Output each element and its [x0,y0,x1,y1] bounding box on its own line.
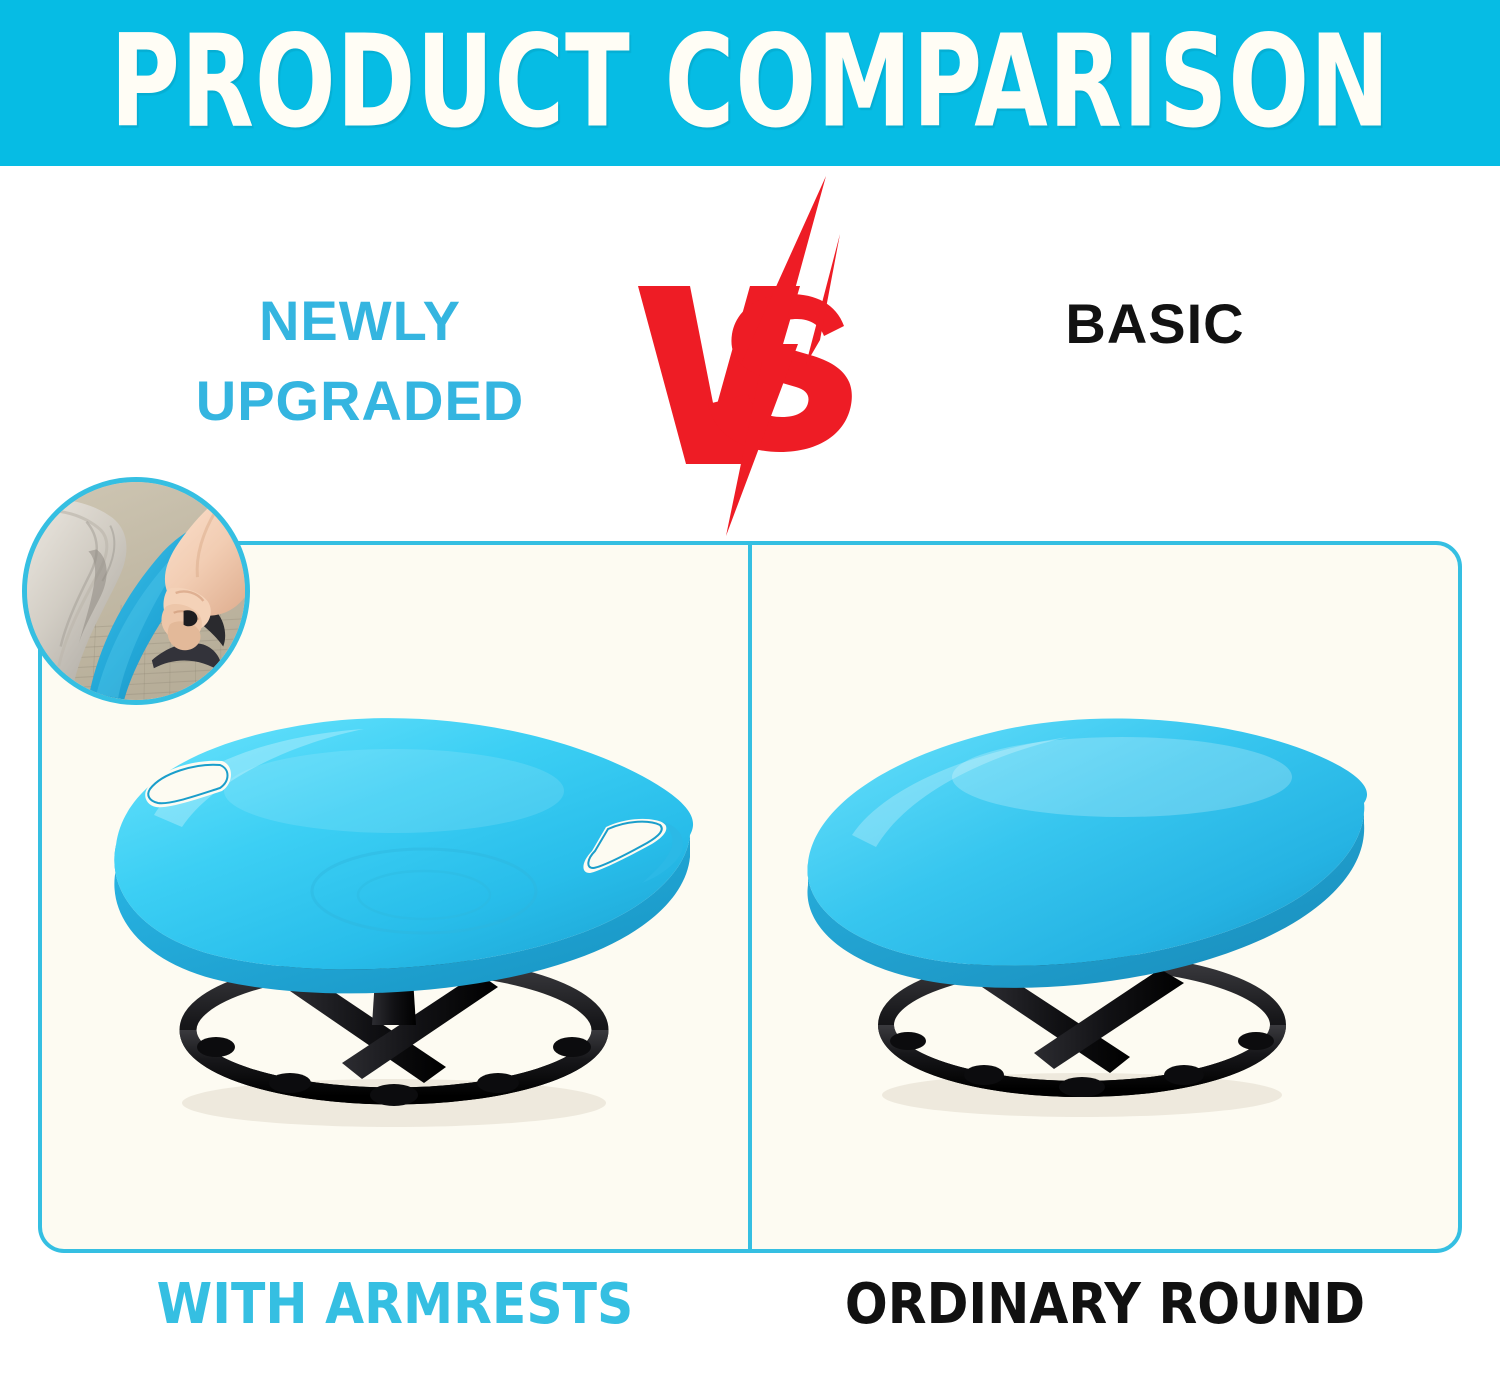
vs-badge [630,176,880,536]
left-heading-line-2: UPGRADED [150,361,570,441]
right-product-heading: BASIC [990,284,1320,364]
header-banner: PRODUCT COMPARISON [0,0,1500,166]
left-heading-line-1: NEWLY [150,281,570,361]
right-product-image [752,545,1458,1249]
product-panels [38,541,1462,1253]
hand-gripping-armrest-inset [22,477,250,705]
right-product-panel [748,541,1462,1253]
right-product-caption: ORDINARY ROUND [784,1272,1427,1337]
left-product-caption: WITH ARMRESTS [74,1272,717,1337]
right-heading-line-1: BASIC [1065,292,1244,355]
product-captions-row: WITH ARMRESTS ORDINARY ROUND [0,1272,1500,1372]
left-product-heading: NEWLY UPGRADED [150,281,570,440]
page-title: PRODUCT COMPARISON [110,19,1390,146]
comparison-headings-row: NEWLY UPGRADED BASIC [0,166,1500,536]
